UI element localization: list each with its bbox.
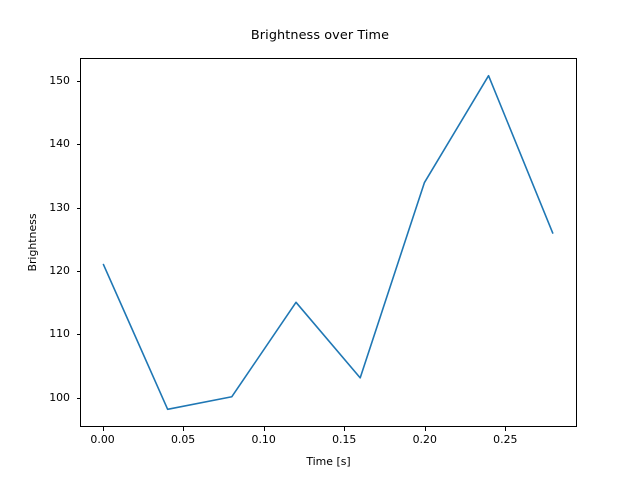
plot-area (80, 58, 577, 427)
x-tick-label: 0.25 (475, 433, 535, 446)
line-series-brightness (103, 76, 552, 410)
y-tick-mark (77, 271, 81, 272)
x-tick-label: 0.10 (234, 433, 294, 446)
figure-canvas: Brightness over Time 0.000.050.100.150.2… (0, 0, 640, 480)
x-tick-mark (103, 427, 104, 431)
x-tick-mark (264, 427, 265, 431)
x-tick-label: 0.05 (153, 433, 213, 446)
x-tick-mark (505, 427, 506, 431)
x-tick-label: 0.20 (395, 433, 455, 446)
x-axis-label: Time [s] (80, 455, 577, 468)
line-series-svg (81, 59, 576, 426)
x-tick-mark (344, 427, 345, 431)
x-tick-label: 0.15 (314, 433, 374, 446)
y-tick-mark (77, 81, 81, 82)
x-tick-mark (183, 427, 184, 431)
x-tick-mark (425, 427, 426, 431)
y-axis-label: Brightness (26, 58, 39, 427)
x-tick-label: 0.00 (73, 433, 133, 446)
y-tick-mark (77, 398, 81, 399)
y-tick-mark (77, 144, 81, 145)
y-tick-mark (77, 334, 81, 335)
chart-title: Brightness over Time (0, 28, 640, 43)
y-tick-mark (77, 208, 81, 209)
